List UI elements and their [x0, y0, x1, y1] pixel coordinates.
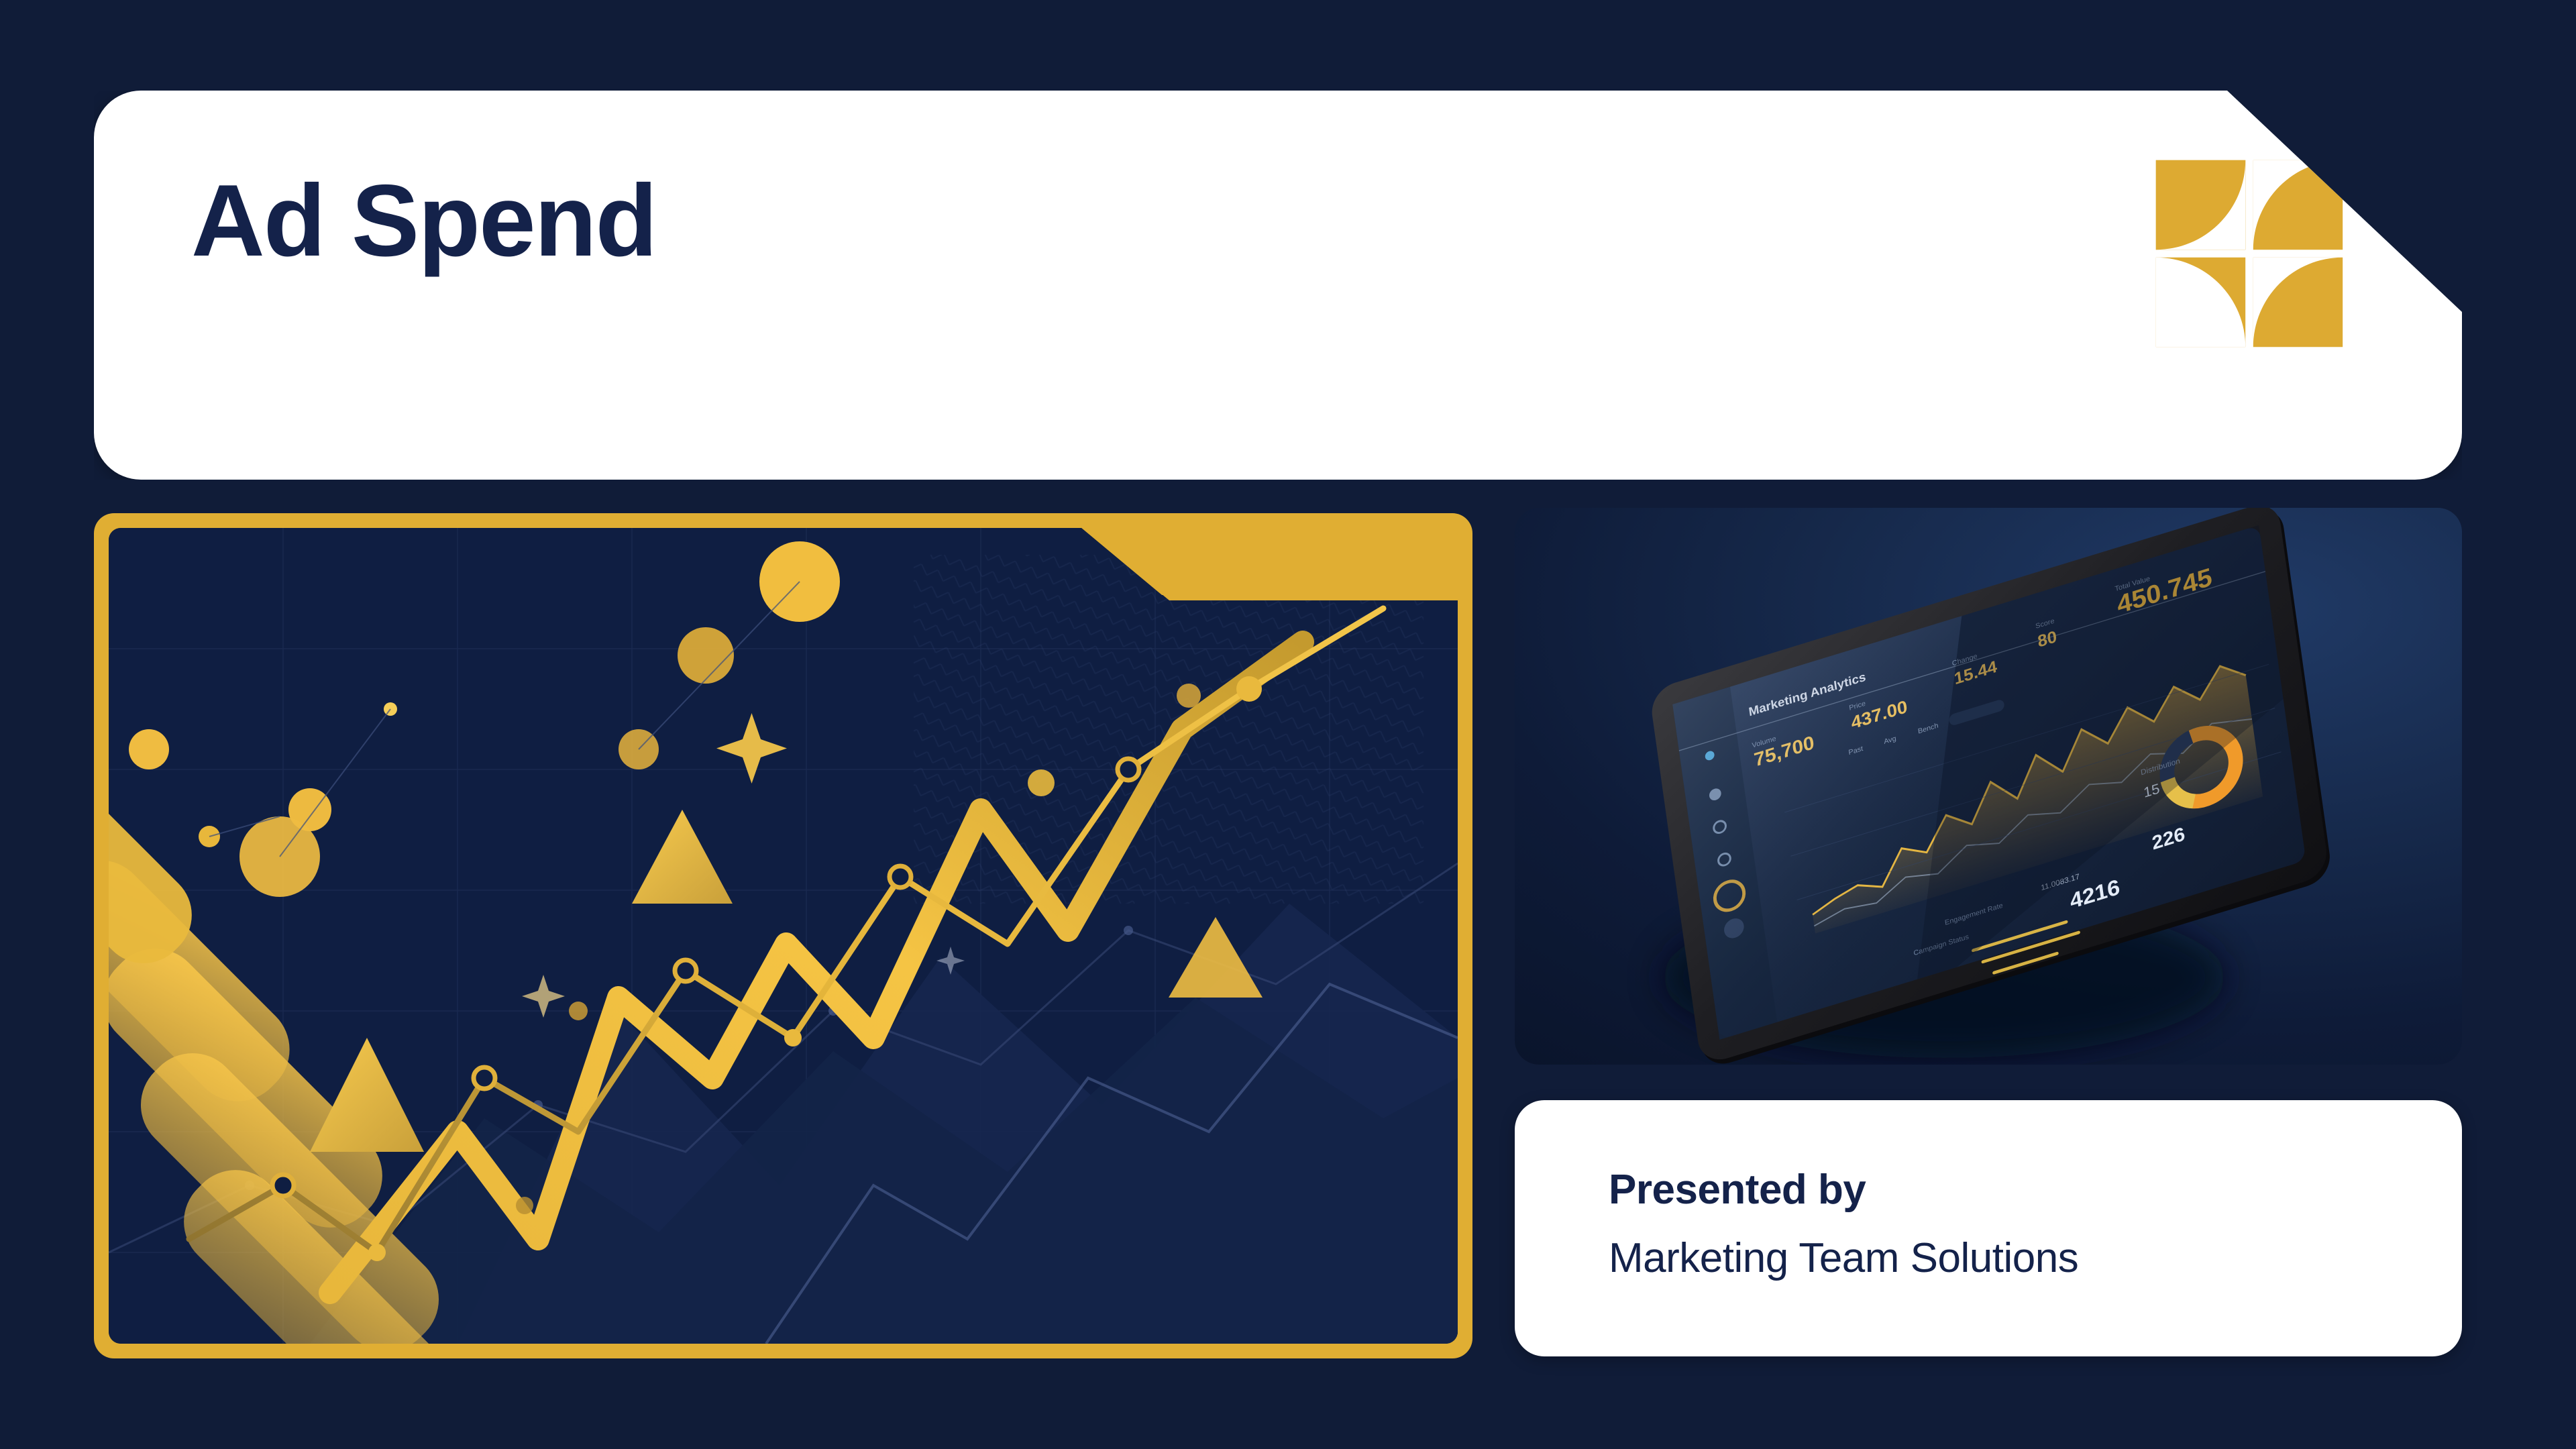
illustration-canvas — [109, 528, 1458, 1344]
tablet-analytics-dashboard: Marketing Analytics Volume 75,700 Price … — [1515, 508, 2462, 1065]
four-petal-pinwheel-logo — [2152, 156, 2347, 351]
page-title: Ad Spend — [191, 170, 656, 272]
ad-spend-growth-illustration — [94, 513, 1472, 1358]
presenter-card: Presented by Marketing Team Solutions — [1515, 1100, 2462, 1356]
header-card: Ad Spend — [94, 91, 2462, 480]
presented-by-label: Presented by — [1609, 1166, 1866, 1214]
presenter-name: Marketing Team Solutions — [1609, 1234, 2078, 1282]
